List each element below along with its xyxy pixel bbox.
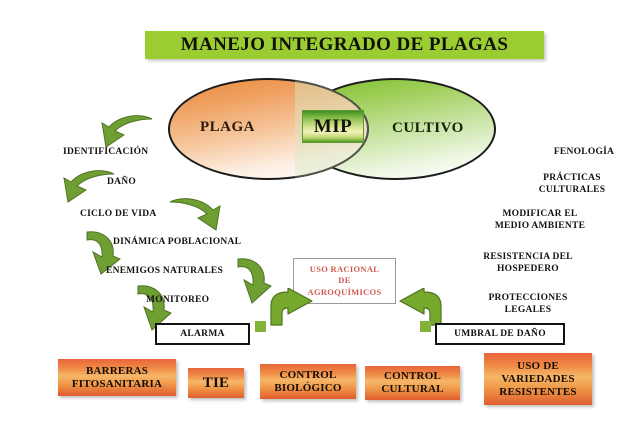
tactic-cultural-line2: CULTURAL [381, 383, 443, 395]
step-label-practicas-culturales-line1: PRÁCTICAS [543, 173, 601, 183]
tactic-barreras-line1: BARRERAS [86, 365, 148, 377]
agro-line2: DE [338, 275, 350, 287]
tactic-cultural-line1: CONTROL [384, 370, 441, 382]
step-label-enemigos-naturales: ENEMIGOS NATURALES [106, 265, 223, 277]
alarma-box: ALARMA [155, 323, 250, 345]
agro-line1: USO RACIONAL [310, 264, 379, 276]
tactic-box-control-biologico: CONTROL BIOLÓGICO [260, 364, 356, 399]
tactic-variedades-line1: USO DE [517, 360, 559, 372]
tactic-biologico-text: CONTROL BIOLÓGICO [274, 369, 341, 395]
step-label-modificar-line1: MODIFICAR EL [502, 209, 577, 219]
step-label-resistencia-line1: RESISTENCIA DEL [483, 252, 573, 262]
step-label-modificar-medio-ambiente: MODIFICAR EL MEDIO AMBIENTE [478, 208, 602, 232]
step-label-practicas-culturales-line2: CULTURALES [539, 185, 606, 195]
curved-swoosh-arrow-icon [166, 196, 222, 240]
tactic-box-tie: TIE [188, 368, 244, 398]
venn-label-plaga: PLAGA [200, 119, 255, 136]
step-label-protecciones-line1: PROTECCIONES [488, 293, 567, 303]
tactic-variedades-text: USO DE VARIEDADES RESISTENTES [499, 360, 576, 399]
page-title: MANEJO INTEGRADO DE PLAGAS [181, 34, 509, 56]
mip-badge-label: MIP [314, 116, 352, 138]
curved-swoosh-arrow-icon [62, 168, 118, 212]
tactic-barreras-text: BARRERAS FITOSANITARIA [72, 365, 162, 391]
tactic-biologico-line1: CONTROL [279, 369, 336, 381]
step-label-resistencia-line2: HOSPEDERO [497, 264, 559, 274]
step-label-fenologia: FENOLOGÍA [535, 146, 633, 158]
umbral-de-dano-box: UMBRAL DE DAÑO [435, 323, 565, 345]
tactic-barreras-line2: FITOSANITARIA [72, 378, 162, 390]
step-label-practicas-culturales: PRÁCTICAS CULTURALES [523, 172, 621, 196]
umbral-de-dano-label: UMBRAL DE DAÑO [454, 329, 546, 339]
step-label-protecciones-legales: PROTECCIONES LEGALES [466, 292, 590, 316]
tactic-box-barreras-fitosanitaria: BARRERAS FITOSANITARIA [58, 359, 176, 396]
mip-badge: MIP [302, 110, 364, 143]
agro-line3: AGROQUÍMICOS [308, 287, 382, 299]
tactic-variedades-line3: RESISTENTES [499, 386, 576, 398]
page-title-banner: MANEJO INTEGRADO DE PLAGAS [145, 31, 544, 59]
step-label-dano: DAÑO [107, 176, 136, 188]
tactic-tie-label: TIE [203, 377, 229, 390]
step-label-modificar-line2: MEDIO AMBIENTE [495, 221, 585, 231]
tactic-box-control-cultural: CONTROL CULTURAL [365, 366, 460, 400]
tactic-cultural-text: CONTROL CULTURAL [381, 370, 443, 396]
step-label-monitoreo: MONITOREO [146, 294, 209, 306]
step-label-protecciones-line2: LEGALES [505, 305, 552, 315]
step-label-dinamica-poblacional: DINÁMICA POBLACIONAL [113, 236, 241, 248]
block-arrow-icon [268, 288, 314, 326]
step-label-ciclo-de-vida: CICLO DE VIDA [80, 208, 156, 220]
tactic-variedades-line2: VARIEDADES [501, 373, 574, 385]
step-label-fenologia-line1: FENOLOGÍA [554, 147, 614, 157]
tactic-biologico-line2: BIOLÓGICO [274, 382, 341, 394]
step-label-identificacion: IDENTIFICACIÓN [63, 146, 148, 158]
alarma-label: ALARMA [180, 329, 225, 339]
venn-label-cultivo: CULTIVO [392, 120, 464, 137]
mip-diagram-canvas: MANEJO INTEGRADO DE PLAGAS PLAGA CULTIVO… [0, 0, 644, 443]
connector-square-left [255, 321, 266, 332]
step-label-resistencia-hospedero: RESISTENCIA DEL HOSPEDERO [466, 251, 590, 275]
tactic-box-uso-variedades-resistentes: USO DE VARIEDADES RESISTENTES [484, 353, 592, 405]
connector-square-right [420, 321, 431, 332]
